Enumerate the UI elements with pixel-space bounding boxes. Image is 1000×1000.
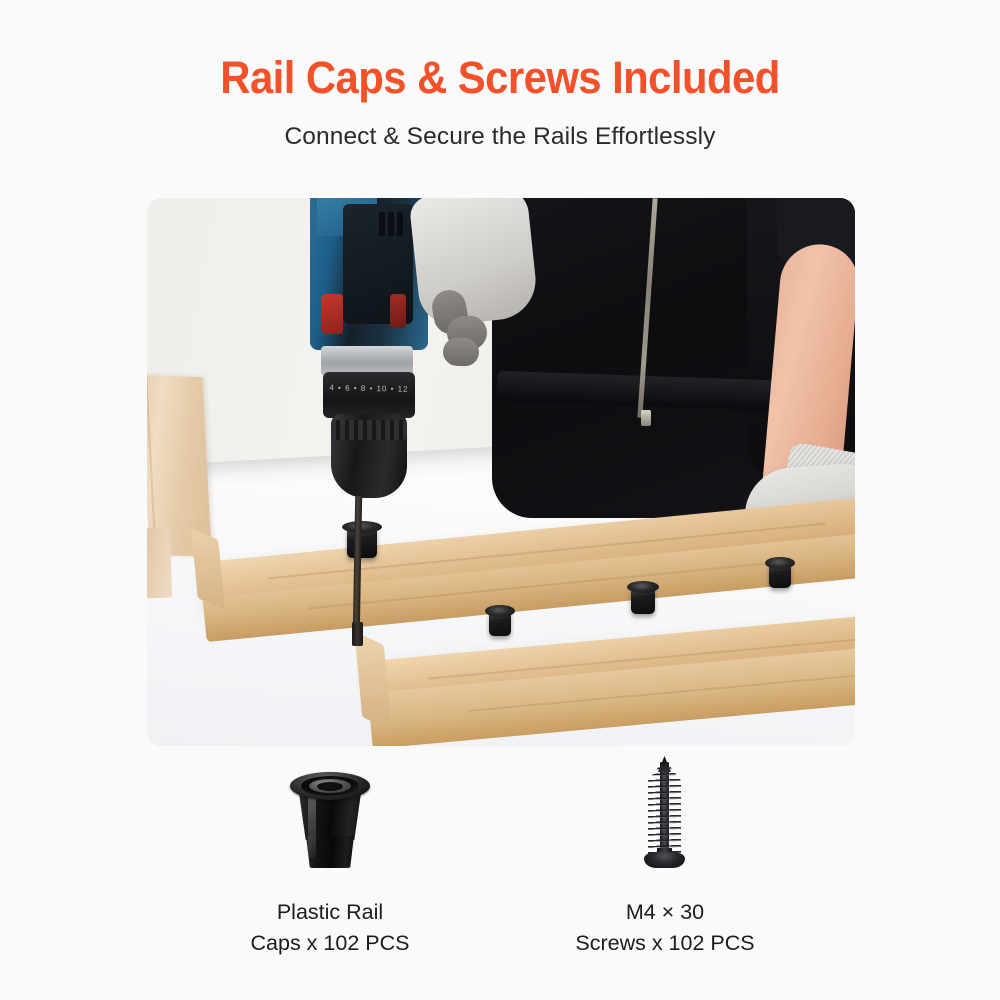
- zipper-pull: [641, 410, 651, 426]
- drill-vent: [388, 212, 394, 236]
- plastic-rail-cap-icon: [268, 756, 392, 882]
- cap-highlight: [308, 792, 316, 858]
- screw-label: M4 × 30 Screws x 102 PCS: [515, 897, 815, 958]
- cap-ring-inner: [317, 782, 343, 791]
- product-infographic: Rail Caps & Screws Included Connect & Se…: [0, 0, 1000, 1000]
- seated-rail-cap: [347, 528, 377, 558]
- screw-head: [644, 852, 685, 868]
- seated-rail-cap: [769, 564, 791, 588]
- screw-label-line-2: Screws x 102 PCS: [515, 928, 815, 959]
- screw-label-line-1: M4 × 30: [515, 897, 815, 928]
- drill-trigger-secondary: [390, 294, 406, 328]
- page-title: Rail Caps & Screws Included: [35, 53, 965, 103]
- drill-vent: [397, 212, 403, 236]
- included-parts-row: [0, 756, 1000, 896]
- wooden-chair-leg: [147, 528, 172, 599]
- left-work-glove: [409, 198, 540, 328]
- drill-torque-markings: 4 • 6 • 8 • 10 • 12: [323, 383, 415, 394]
- cap-label-line-2: Caps x 102 PCS: [180, 928, 480, 959]
- photo-scene: 4 • 6 • 8 • 10 • 12: [147, 198, 855, 746]
- screw-icon: [600, 752, 730, 882]
- seated-rail-cap: [631, 588, 655, 614]
- drill-vent: [379, 212, 385, 236]
- screw-threads: [648, 766, 681, 858]
- drill-chuck-grip: [331, 420, 407, 440]
- glove-finger: [443, 337, 480, 366]
- page-subtitle: Connect & Secure the Rails Effortlessly: [0, 123, 1000, 151]
- driver-bit-tip: [352, 622, 363, 646]
- product-photo: 4 • 6 • 8 • 10 • 12: [147, 198, 855, 746]
- cap-label-line-1: Plastic Rail: [180, 897, 480, 928]
- seated-rail-cap: [489, 612, 511, 636]
- plastic-rail-cap-label: Plastic Rail Caps x 102 PCS: [180, 897, 480, 958]
- drill-trigger: [321, 294, 343, 334]
- drill-torque-ring: [323, 372, 415, 418]
